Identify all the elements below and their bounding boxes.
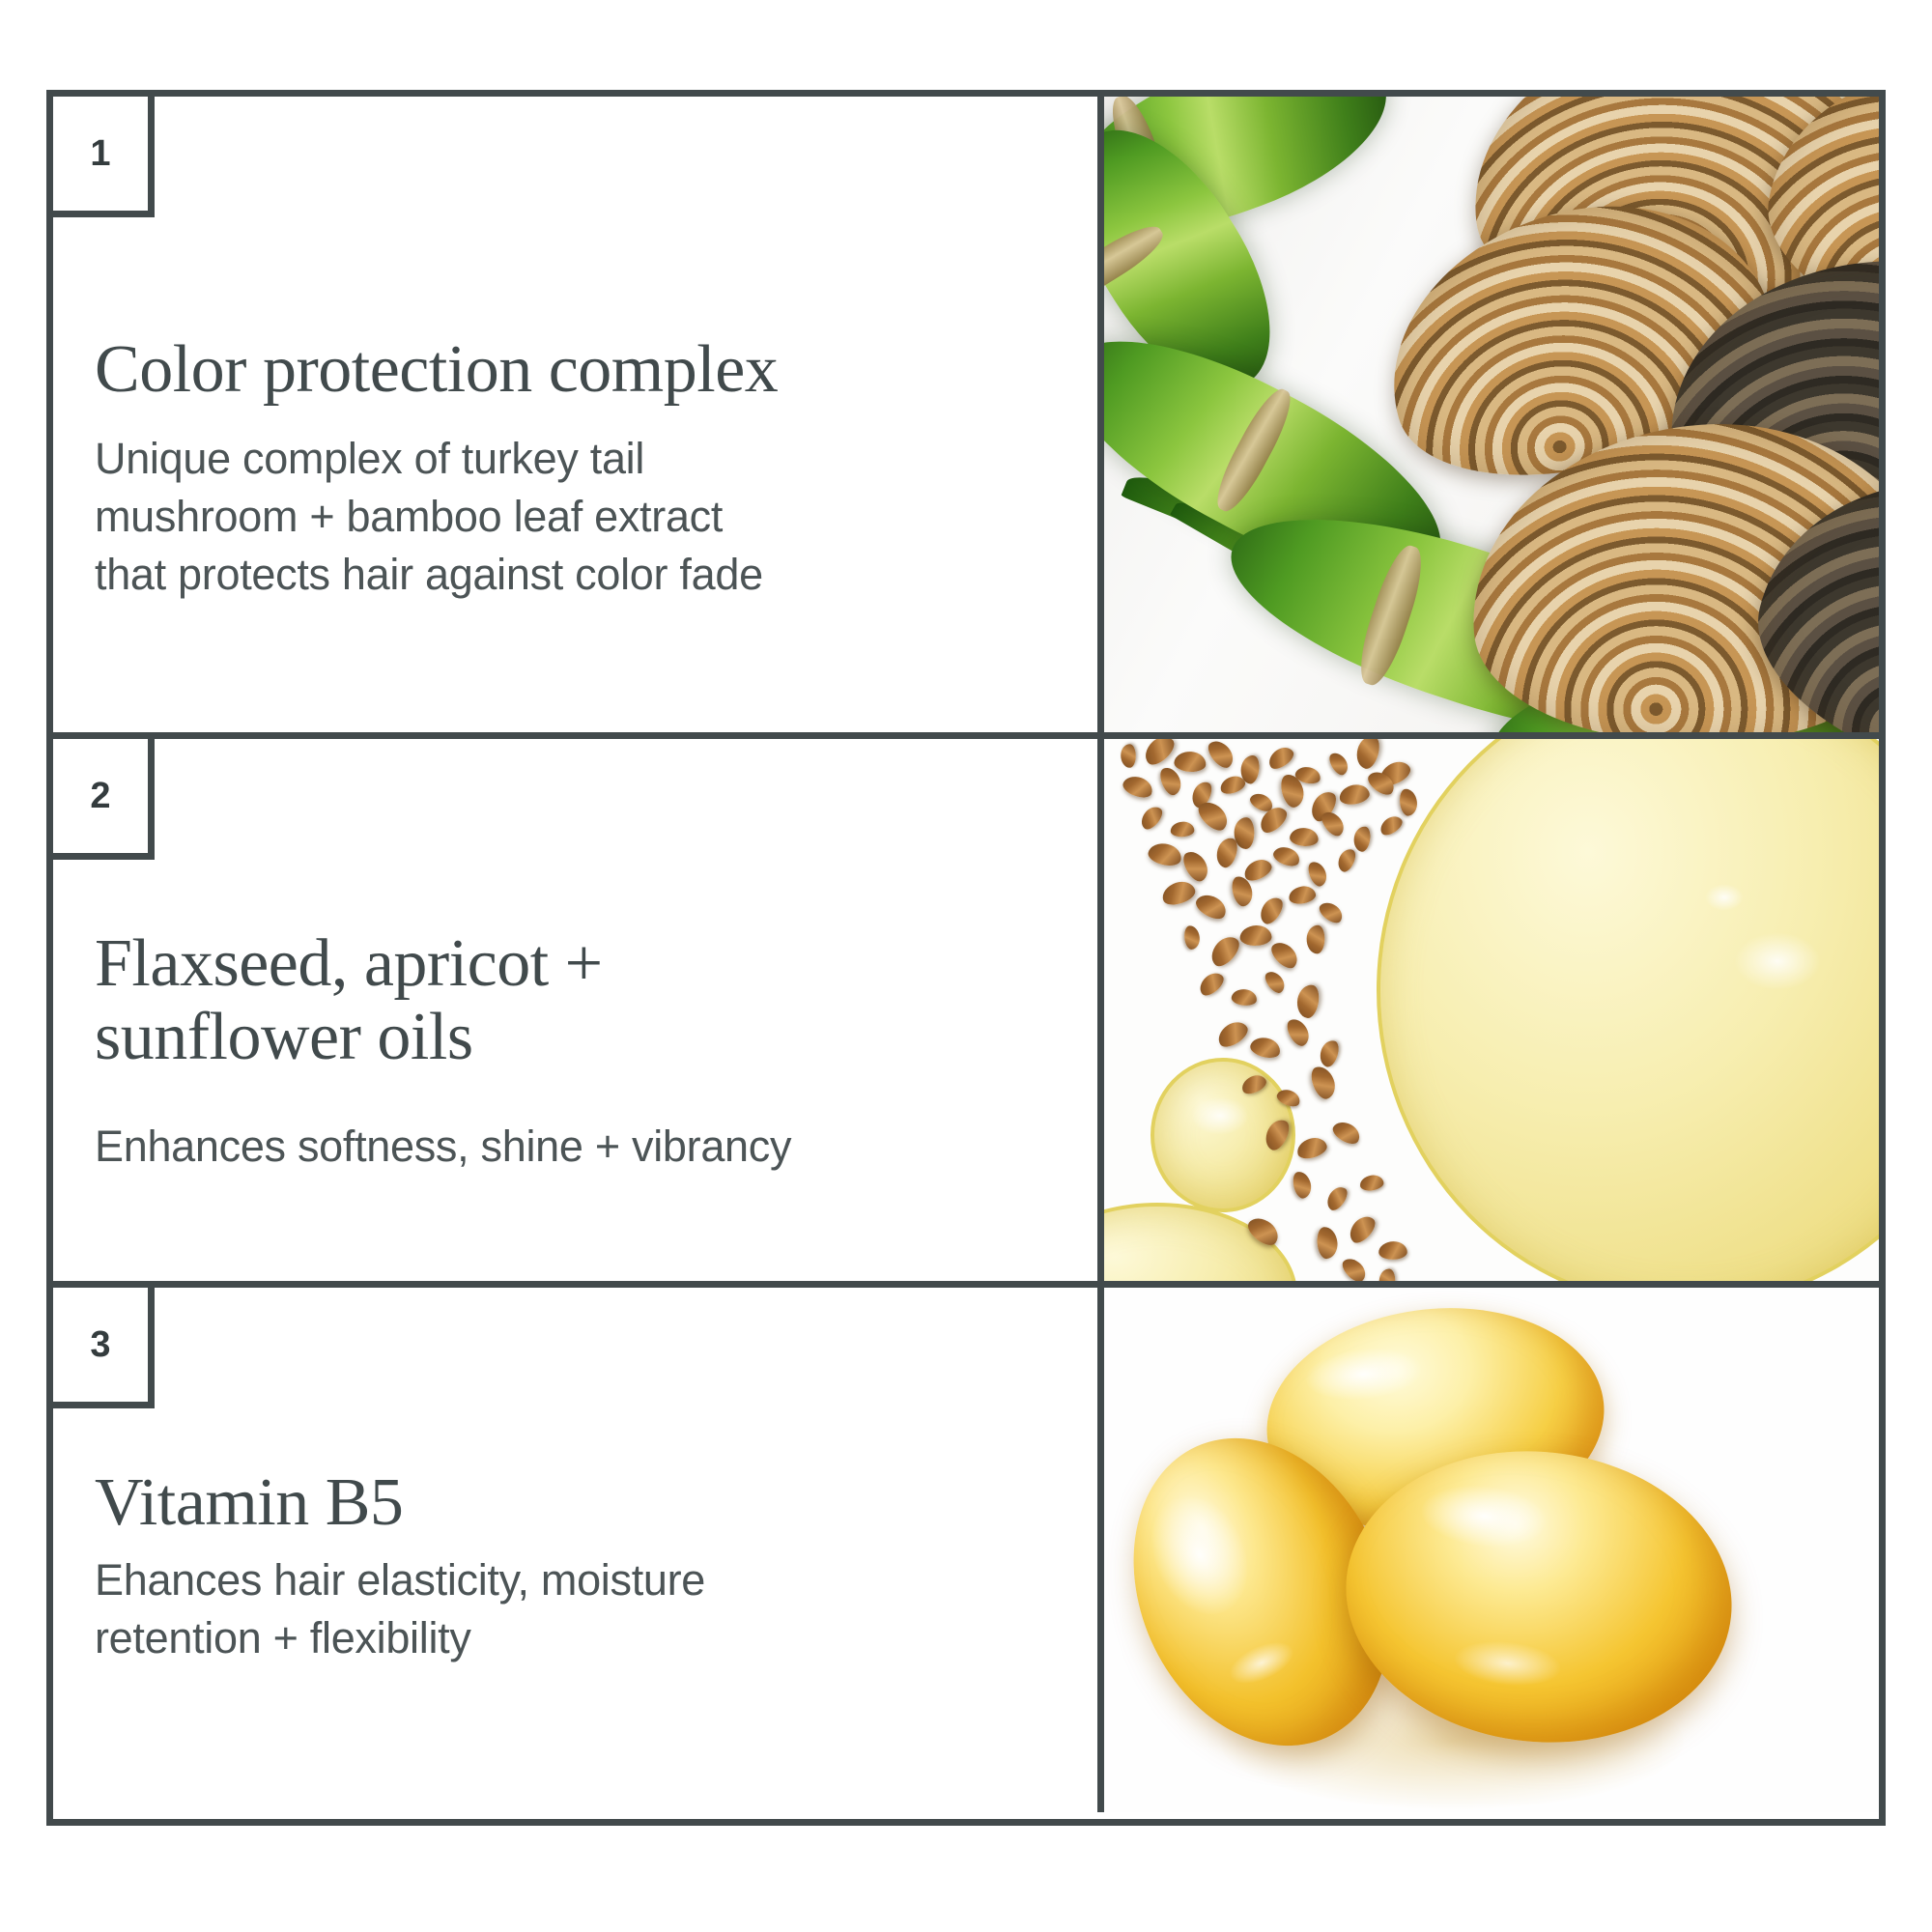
flaxseed <box>1316 1226 1339 1260</box>
flaxseed <box>1353 739 1383 771</box>
flaxseed <box>1271 843 1302 869</box>
panel-3-heading: Vitamin B5 <box>95 1466 705 1540</box>
flaxseed <box>1262 968 1288 996</box>
flaxseed-oil-illustration <box>1104 739 1879 1281</box>
flaxseed <box>1377 812 1405 838</box>
panel-2-image <box>1104 739 1879 1281</box>
flaxseed <box>1140 739 1179 769</box>
flaxseed <box>1289 827 1319 847</box>
flaxseed <box>1317 1037 1341 1068</box>
panel-1-text-block: Color protection complex Unique complex … <box>95 333 778 604</box>
panel-3-number-badge: 3 <box>53 1288 155 1408</box>
panel-3-text-column: 3 Vitamin B5 Ehances hair elasticity, mo… <box>53 1288 1104 1812</box>
flaxseed <box>1291 1170 1314 1200</box>
flaxseed <box>1399 788 1419 817</box>
ingredient-highlights-card: 1 Color protection complex Unique comple… <box>46 90 1886 1826</box>
panel-1-text-column: 1 Color protection complex Unique comple… <box>53 97 1104 732</box>
flaxseed <box>1338 782 1371 807</box>
turkey-tail-mushroom-bamboo-illustration <box>1104 97 1879 732</box>
vitamin-gel-capsules-illustration <box>1104 1288 1879 1812</box>
panel-1-number-badge: 1 <box>53 97 155 217</box>
flaxseed <box>1196 969 1228 1000</box>
flaxseed <box>1239 925 1272 947</box>
flaxseed <box>1264 743 1296 773</box>
flaxseed <box>1308 1063 1340 1101</box>
flaxseed <box>1256 894 1287 927</box>
flaxseed <box>1339 1254 1370 1281</box>
panel-1-heading: Color protection complex <box>95 333 778 407</box>
panel-2-text-column: 2 Flaxseed, apricot + sunflower oils Enh… <box>53 739 1104 1281</box>
flaxseed <box>1179 847 1213 885</box>
flaxseed <box>1137 803 1166 833</box>
flaxseed <box>1352 825 1373 853</box>
flaxseed <box>1329 1118 1363 1148</box>
flaxseed <box>1204 739 1237 772</box>
panel-3-text-block: Vitamin B5 Ehances hair elasticity, mois… <box>95 1466 705 1667</box>
flaxseed <box>1147 840 1184 868</box>
panel-1-image <box>1104 97 1879 732</box>
flaxseed <box>1305 859 1329 889</box>
flaxseed <box>1345 1211 1379 1246</box>
panel-1-body: Unique complex of turkey tail mushroom +… <box>95 430 778 605</box>
flaxseed <box>1174 751 1207 773</box>
flaxseed <box>1183 924 1201 950</box>
panel-2-number-badge: 2 <box>53 739 155 860</box>
flaxseed <box>1359 1174 1385 1192</box>
flaxseed <box>1193 890 1231 923</box>
flaxseed <box>1206 931 1243 970</box>
flaxseed <box>1317 898 1347 926</box>
panel-2-body: Enhances softness, shine + vibrancy <box>95 1118 791 1176</box>
panel-1-number: 1 <box>90 135 110 172</box>
flaxseed <box>1159 878 1198 909</box>
flaxseed <box>1231 988 1258 1007</box>
panel-2-number: 2 <box>90 778 110 814</box>
panel-3-number: 3 <box>90 1326 110 1363</box>
flaxseed <box>1248 1035 1282 1061</box>
flaxseed <box>1323 1183 1350 1213</box>
flaxseed <box>1306 924 1325 953</box>
ingredient-panel-1: 1 Color protection complex Unique comple… <box>53 97 1879 739</box>
flaxseed <box>1121 773 1155 801</box>
panel-3-body: Ehances hair elasticity, moisture retent… <box>95 1551 705 1668</box>
ingredient-panel-2: 2 Flaxseed, apricot + sunflower oils Enh… <box>53 739 1879 1288</box>
panel-3-image <box>1104 1288 1879 1812</box>
flaxseed <box>1378 1241 1407 1260</box>
flaxseed <box>1326 750 1351 778</box>
panel-2-text-block: Flaxseed, apricot + sunflower oils Enhan… <box>95 927 791 1176</box>
flaxseed <box>1121 744 1136 768</box>
flaxseed <box>1170 821 1194 838</box>
flaxseed <box>1284 1015 1314 1049</box>
flaxseed <box>1267 937 1302 972</box>
flaxseed <box>1335 846 1359 874</box>
panel-2-heading: Flaxseed, apricot + sunflower oils <box>95 927 791 1073</box>
flaxseed <box>1294 983 1321 1020</box>
flaxseed <box>1378 1268 1396 1281</box>
ingredient-panel-3: 3 Vitamin B5 Ehances hair elasticity, mo… <box>53 1288 1879 1812</box>
flaxseed <box>1214 1017 1252 1051</box>
flaxseed <box>1294 1134 1329 1161</box>
flaxseed <box>1288 884 1318 905</box>
